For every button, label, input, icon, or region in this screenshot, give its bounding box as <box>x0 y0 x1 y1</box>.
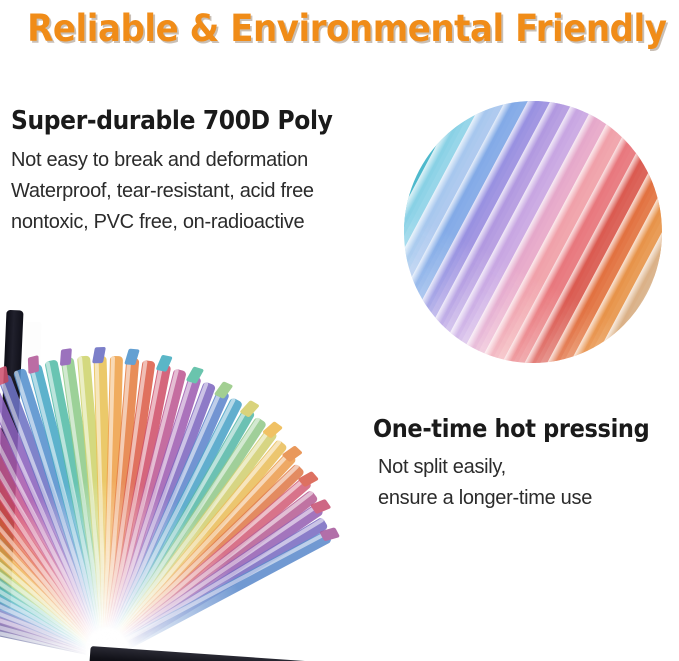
left-feature-block: Super-durable 700D Poly Not easy to brea… <box>11 104 411 238</box>
right-feature-line: ensure a longer-time use <box>378 483 679 514</box>
left-feature-body: Not easy to break and deformation Waterp… <box>11 145 411 238</box>
headline-banner: Reliable & Environmental Friendly <box>27 6 652 52</box>
folder-spine-bottom <box>89 646 380 661</box>
folder-index-tab <box>92 346 106 362</box>
circle-inset-photo <box>404 101 662 363</box>
folder-index-tab <box>214 381 234 399</box>
left-feature-line: Waterproof, tear-resistant, acid free <box>11 176 411 207</box>
left-feature-heading: Super-durable 700D Poly <box>11 104 371 138</box>
folder-index-tab <box>28 355 39 374</box>
folder-index-tab <box>186 366 205 384</box>
left-feature-line: Not easy to break and deformation <box>11 145 411 176</box>
folder-index-tab <box>156 355 173 372</box>
right-feature-line: Not split easily, <box>378 452 679 483</box>
folder-index-tab <box>124 349 140 366</box>
product-feature-graphic: Reliable & Environmental Friendly Super-… <box>0 0 679 661</box>
folder-index-tab <box>60 348 72 366</box>
circle-inset-stripes <box>404 101 662 363</box>
right-feature-body: Not split easily, ensure a longer-time u… <box>373 452 679 514</box>
fan-product-photo <box>0 296 386 661</box>
right-feature-heading: One-time hot pressing <box>373 412 648 446</box>
right-feature-block: One-time hot pressing Not split easily, … <box>373 412 679 514</box>
left-feature-line: nontoxic, PVC free, on-radioactive <box>11 207 411 238</box>
